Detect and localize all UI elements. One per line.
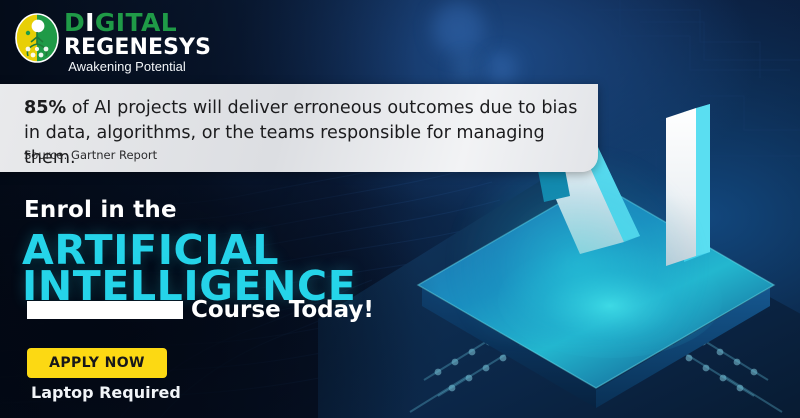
statistic-source: Source: Gartner Report	[24, 148, 157, 162]
statistic-highlight: 85%	[24, 98, 66, 118]
logo-digital-text: DIGITAL	[64, 10, 192, 36]
promo-banner: DIGITAL REGENESYS Awakening Potential 85…	[0, 0, 800, 418]
brand-logo[interactable]: DIGITAL REGENESYS Awakening Potential	[14, 10, 190, 70]
statistic-panel: 85% of AI projects will deliver erroneou…	[0, 84, 598, 172]
logo-regenesys-text: REGENESYS	[64, 36, 192, 59]
tree-circle-emblem-icon	[14, 13, 60, 63]
laptop-required-note: Laptop Required	[31, 383, 181, 402]
headline-suffix: Course Today!	[191, 297, 374, 323]
apply-now-button[interactable]: APPLY NOW	[27, 348, 167, 378]
headline-eyebrow: Enrol in the	[24, 197, 177, 223]
blank-field-bar[interactable]	[27, 301, 183, 319]
logo-tagline: Awakening Potential	[64, 59, 190, 75]
logo-wordmark: DIGITAL REGENESYS Awakening Potential	[64, 10, 192, 75]
